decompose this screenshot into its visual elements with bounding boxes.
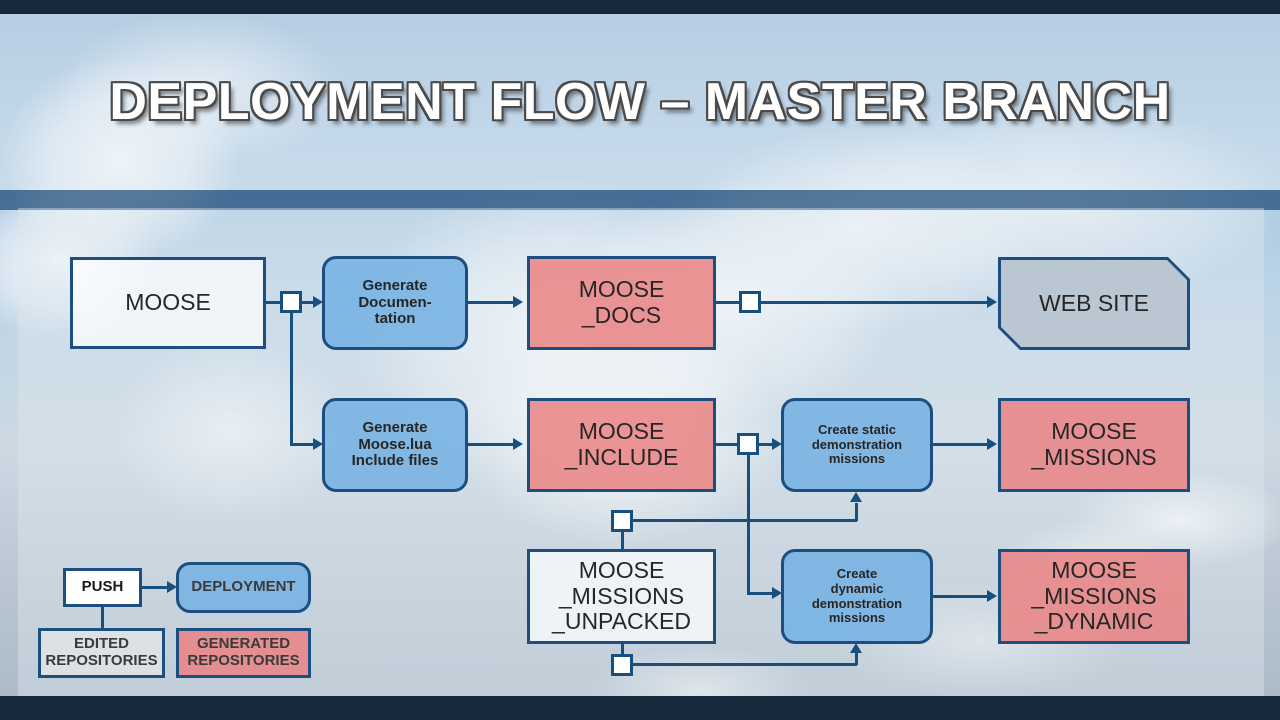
arrowhead-to-moose-missions: [987, 438, 997, 450]
link-junction3-down: [747, 454, 750, 594]
page-title: DEPLOYMENT FLOW – MASTER BRANCH: [0, 72, 1280, 132]
node-moose-missions[interactable]: MOOSE _MISSIONS: [998, 398, 1190, 492]
node-create-static-line-1: Create static: [818, 423, 896, 438]
node-moose[interactable]: MOOSE: [70, 257, 266, 349]
node-web-site-label-wrap: WEB SITE: [998, 291, 1190, 317]
node-moose-docs-line-2: _DOCS: [582, 303, 661, 329]
node-generate-include[interactable]: Generate Moose.lua Include files: [322, 398, 468, 492]
node-generate-include-line-2: Moose.lua: [358, 437, 431, 454]
node-web-site-label: WEB SITE: [998, 291, 1190, 317]
node-moose-missions-line-1: MOOSE: [1051, 419, 1137, 445]
junction-node-5[interactable]: [611, 654, 633, 676]
node-create-dynamic-line-3: demonstration: [812, 597, 902, 612]
node-generate-documentation[interactable]: Generate Documen- tation: [322, 256, 468, 350]
node-generate-include-line-3: Include files: [352, 453, 439, 470]
node-create-dynamic-line-2: dynamic: [831, 582, 884, 597]
slide-canvas: DEPLOYMENT FLOW – MASTER BRANCH MOOSE Ge…: [0, 0, 1280, 720]
arrowhead-to-web-site: [987, 296, 997, 308]
arrowhead-to-moose-missions-dynamic: [987, 590, 997, 602]
link-junction1-down: [290, 312, 293, 445]
node-moose-include[interactable]: MOOSE _INCLUDE: [527, 398, 716, 492]
node-moose-docs[interactable]: MOOSE _DOCS: [527, 256, 716, 350]
legend-push-label: PUSH: [82, 579, 124, 596]
node-create-dynamic-line-1: Create: [837, 567, 877, 582]
legend-edited-line-2: REPOSITORIES: [45, 653, 157, 670]
node-unpacked-line-1: MOOSE: [579, 558, 665, 584]
link-junction4-right: [633, 519, 857, 522]
junction-node-3[interactable]: [737, 433, 759, 455]
node-create-static-line-3: missions: [829, 452, 885, 467]
node-moose-include-line-2: _INCLUDE: [565, 445, 679, 471]
node-moose-missions-unpacked[interactable]: MOOSE _MISSIONS _UNPACKED: [527, 549, 716, 644]
node-create-static-line-2: demonstration: [812, 438, 902, 453]
link-junction5-up-to-create-dynamic: [855, 653, 858, 665]
link-generate-include-to-moose-include: [468, 443, 515, 446]
node-web-site[interactable]: WEB SITE: [998, 257, 1190, 350]
junction-node-1[interactable]: [280, 291, 302, 313]
top-band: [0, 0, 1280, 14]
link-junction4-up-to-create-static: [855, 503, 858, 521]
legend-edited-repositories[interactable]: EDITED REPOSITORIES: [38, 628, 165, 678]
node-unpacked-line-3: _UNPACKED: [552, 609, 691, 635]
arrowhead-up-to-create-dynamic: [850, 643, 862, 653]
node-moose-include-line-1: MOOSE: [579, 419, 665, 445]
legend-generated-line-1: GENERATED: [197, 636, 290, 653]
bottom-band: [0, 696, 1280, 720]
link-junction3-to-create-dynamic: [747, 592, 774, 595]
node-create-dynamic-missions[interactable]: Create dynamic demonstration missions: [781, 549, 933, 644]
node-unpacked-line-2: _MISSIONS: [559, 584, 684, 610]
node-generate-documentation-line-1: Generate: [362, 278, 427, 295]
node-moose-label: MOOSE: [125, 290, 211, 316]
arrowhead-to-moose-include: [513, 438, 523, 450]
link-create-static-to-moose-missions: [933, 443, 989, 446]
node-generate-documentation-line-2: Documen-: [358, 295, 431, 312]
link-push-down-to-edited: [101, 607, 104, 629]
link-junction1-to-generate-include: [290, 443, 315, 446]
legend-generated-repositories[interactable]: GENERATED REPOSITORIES: [176, 628, 311, 678]
link-junction5-right: [633, 663, 857, 666]
junction-node-2[interactable]: [739, 291, 761, 313]
link-junction4-to-unpacked: [621, 531, 624, 549]
junction-node-4[interactable]: [611, 510, 633, 532]
node-moose-missions-dynamic[interactable]: MOOSE _MISSIONS _DYNAMIC: [998, 549, 1190, 644]
arrowhead-to-moose-docs: [513, 296, 523, 308]
node-create-static-missions[interactable]: Create static demonstration missions: [781, 398, 933, 492]
legend-generated-line-2: REPOSITORIES: [187, 653, 299, 670]
legend-deployment-label: DEPLOYMENT: [191, 579, 295, 596]
node-generate-documentation-line-3: tation: [375, 311, 416, 328]
link-create-dynamic-to-moose-missions-dynamic: [933, 595, 989, 598]
node-dynamic-line-1: MOOSE: [1051, 558, 1137, 584]
node-generate-include-line-1: Generate: [362, 420, 427, 437]
node-moose-docs-line-1: MOOSE: [579, 277, 665, 303]
link-generate-docs-to-moose-docs: [468, 301, 515, 304]
link-push-to-deployment: [142, 586, 169, 589]
legend-edited-line-1: EDITED: [74, 636, 129, 653]
arrowhead-up-to-create-static: [850, 492, 862, 502]
node-create-dynamic-line-4: missions: [829, 611, 885, 626]
legend-deployment[interactable]: DEPLOYMENT: [176, 562, 311, 613]
legend-push[interactable]: PUSH: [63, 568, 142, 607]
header-divider-band: [0, 190, 1280, 210]
node-dynamic-line-2: _MISSIONS: [1031, 584, 1156, 610]
node-moose-missions-line-2: _MISSIONS: [1031, 445, 1156, 471]
node-dynamic-line-3: _DYNAMIC: [1035, 609, 1154, 635]
